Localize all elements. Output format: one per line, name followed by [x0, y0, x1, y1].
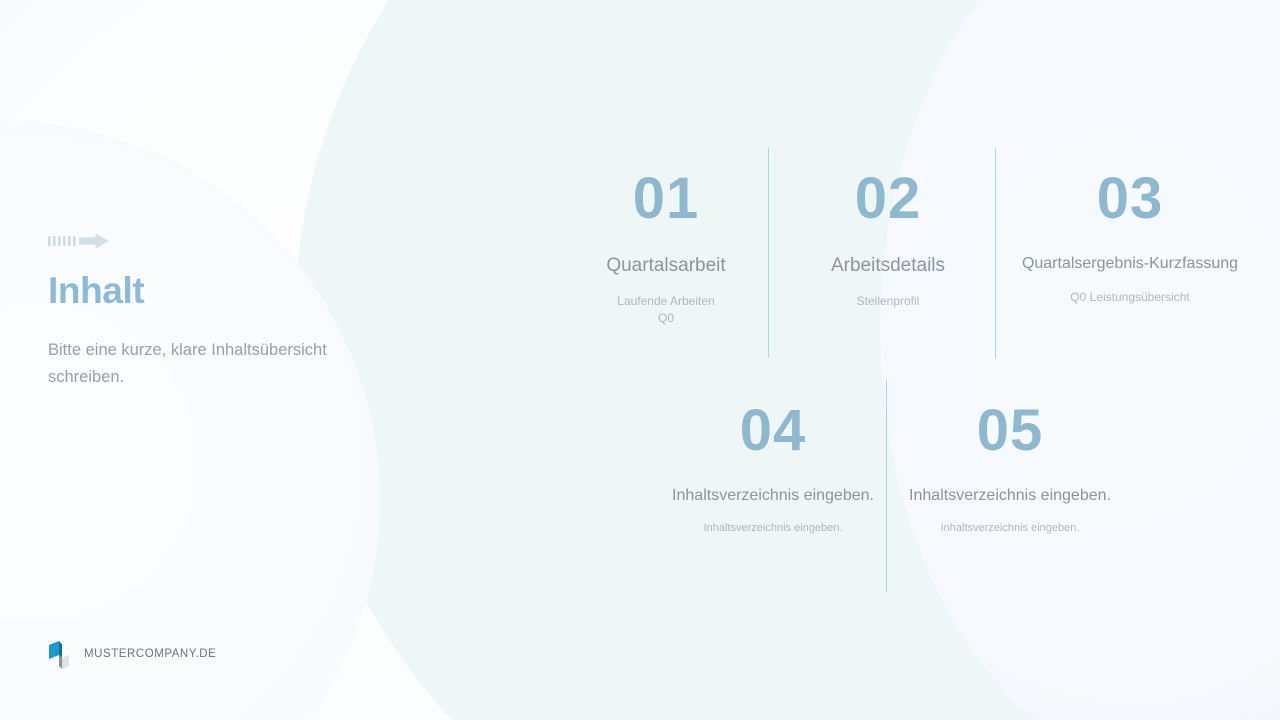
card-title: Inhaltsverzeichnis eingeben.: [900, 486, 1120, 506]
background-blob-lower-left: [0, 120, 380, 720]
card-title: Arbeitsdetails: [782, 254, 994, 278]
page-title: Inhalt: [48, 272, 348, 311]
company-name: MUSTERCOMPANY.DE: [84, 647, 202, 662]
card-subtitle: Laufende ArbeitenQ0: [560, 293, 772, 328]
card-subtitle: Inhaltsverzeichnis eingeben.: [900, 521, 1120, 537]
company-mark-icon: [46, 638, 72, 672]
agenda-card-02[interactable]: 02 Arbeitsdetails Stellenprofil: [782, 170, 994, 310]
card-subtitle: Q0 Leistungsübersicht: [1000, 289, 1260, 306]
dashed-arrow-right-icon: [48, 232, 348, 250]
card-number: 04: [663, 402, 883, 460]
card-title: Quartalsergebnis-Kurzfassung: [1000, 254, 1260, 274]
agenda-card-01[interactable]: 01 Quartalsarbeit Laufende ArbeitenQ0: [560, 170, 772, 328]
agenda-cards: 01 Quartalsarbeit Laufende ArbeitenQ0 02…: [560, 140, 1260, 610]
card-number: 01: [560, 170, 772, 228]
agenda-card-04[interactable]: 04 Inhaltsverzeichnis eingeben. Inhaltsv…: [663, 402, 883, 537]
card-subtitle: Stellenprofil: [782, 293, 994, 310]
footer-branding: MUSTERCOMPANY.DE: [46, 638, 202, 672]
card-number: 02: [782, 170, 994, 228]
agenda-card-03[interactable]: 03 Quartalsergebnis-Kurzfassung Q0 Leist…: [1000, 170, 1260, 306]
slide-canvas: Inhalt Bitte eine kurze, klare Inhaltsüb…: [0, 0, 1280, 720]
page-description: Bitte eine kurze, klare Inhaltsübersicht…: [48, 337, 348, 390]
card-number: 03: [1000, 170, 1260, 228]
card-title: Inhaltsverzeichnis eingeben.: [663, 486, 883, 506]
card-title: Quartalsarbeit: [560, 254, 772, 278]
card-subtitle: Inhaltsverzeichnis eingeben.: [663, 521, 883, 537]
card-number: 05: [900, 402, 1120, 460]
intro-block: Inhalt Bitte eine kurze, klare Inhaltsüb…: [48, 232, 348, 390]
agenda-card-05[interactable]: 05 Inhaltsverzeichnis eingeben. Inhaltsv…: [900, 402, 1120, 537]
